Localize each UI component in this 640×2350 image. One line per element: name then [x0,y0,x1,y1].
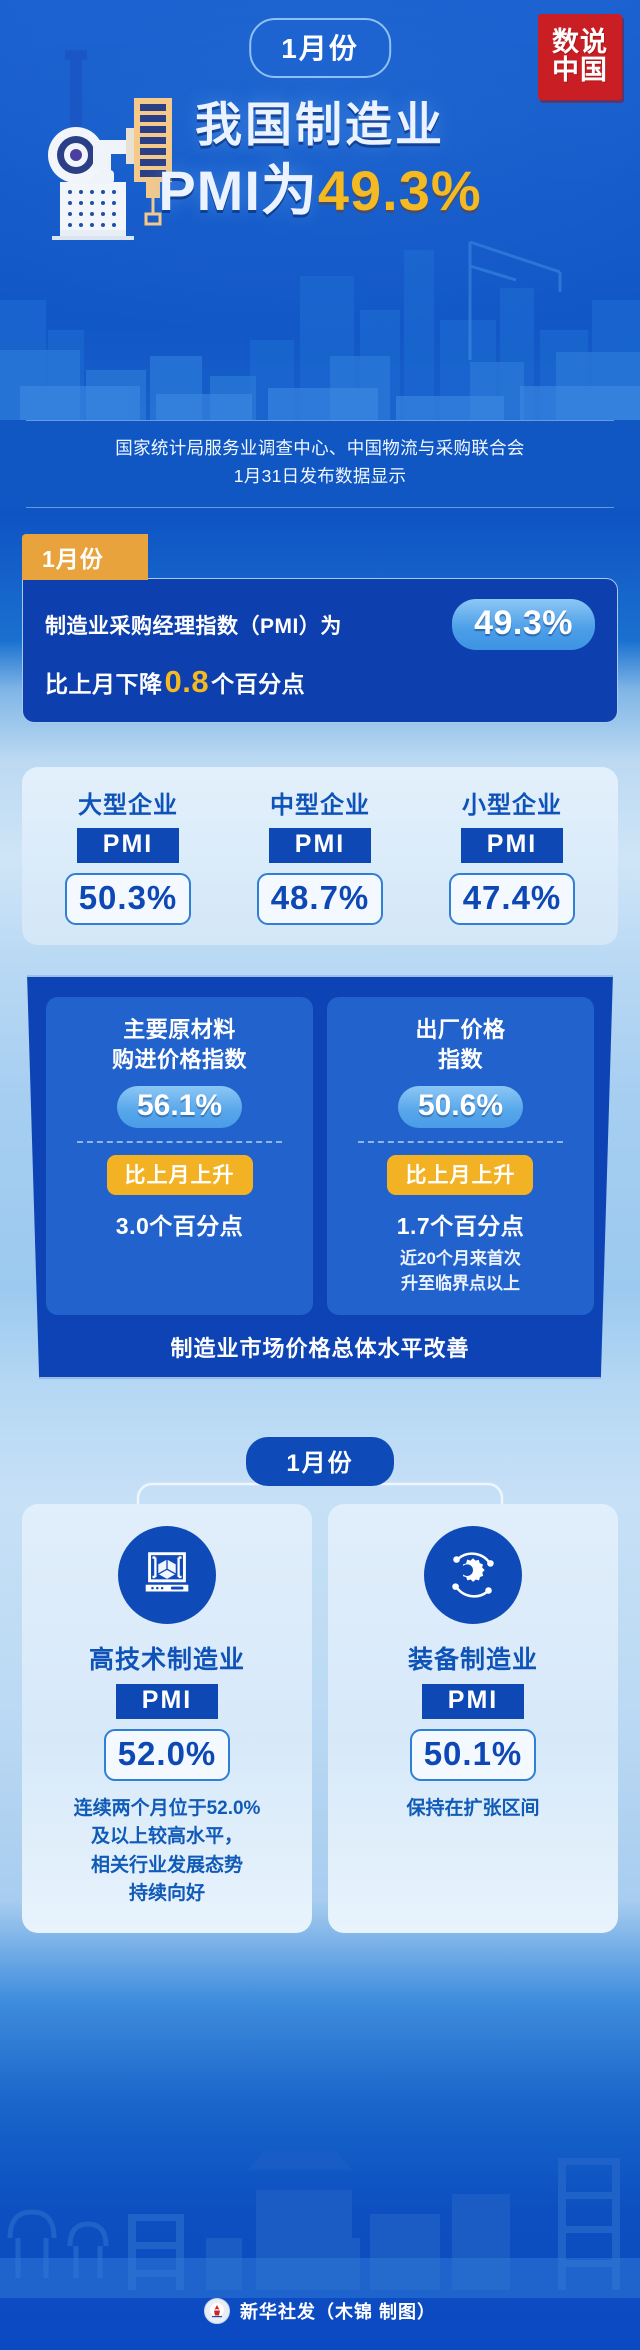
price-index-columns: 主要原材料 购进价格指数 56.1% 比上月上升 3.0个百分点 出厂价格 指数… [36,997,604,1315]
price-points-gate: 1.7个百分点 [397,1207,524,1241]
pmi-month-tag: 1月份 [22,534,148,580]
price-col-raw-material: 主要原材料 购进价格指数 56.1% 比上月上升 3.0个百分点 [46,997,313,1315]
enterprise-pmi-chip-small: PMI [461,828,563,863]
industry-pmi-chip-equipment: PMI [422,1684,524,1719]
enterprise-name-medium: 中型企业 [225,785,415,820]
seal-line-1: 数说 [552,29,608,57]
price-index-footer: 制造业市场价格总体水平改善 [36,1331,604,1363]
price-divider-gate [358,1141,562,1143]
pmi-change-suffix: 个百分点 [211,671,305,697]
industry-desc-high-tech-line4: 持续向好 [74,1880,261,1909]
price-note-gate: 近20个月来首次 升至临界点以上 [400,1247,521,1296]
enterprise-name-large: 大型企业 [33,785,223,820]
source-line-1: 国家统计局服务业调查中心、中国物流与采购联合会 [0,434,640,462]
price-title-raw: 主要原材料 购进价格指数 [112,1015,247,1074]
hero-title-line1: 我国制造业 [0,86,640,155]
seal-line-2: 中国 [552,57,608,85]
xinhua-logo-icon [204,2298,230,2324]
enterprise-col-small: 小型企业 PMI 47.4% [417,785,607,925]
industry-name-high-tech: 高技术制造业 [89,1640,245,1676]
industry-card-equipment: 装备制造业 PMI 50.1% 保持在扩张区间 [328,1504,618,1933]
price-note-gate-line2: 升至临界点以上 [400,1272,521,1297]
industry-desc-equipment-line1: 保持在扩张区间 [406,1795,539,1824]
pmi-value-row: 制造业采购经理指数（PMI）为 49.3% [45,599,595,650]
price-index-section: 主要原材料 购进价格指数 56.1% 比上月上升 3.0个百分点 出厂价格 指数… [0,955,640,1391]
source-line-2: 1月31日发布数据显示 [0,462,640,490]
price-title-gate-line2: 指数 [415,1045,505,1075]
gear-orbit-glyph [442,1544,504,1606]
pmi-value-pill: 49.3% [452,599,595,650]
price-value-raw: 56.1% [117,1086,242,1128]
enterprise-value-small: 47.4% [449,873,576,925]
industrial-skyline-icon [0,2118,640,2298]
hero-pmi-value: 49.3% [318,159,482,222]
industry-pmi-chip-high-tech: PMI [116,1684,218,1719]
industry-value-equipment: 50.1% [410,1729,537,1781]
credit-text: 新华社发（木锦 制图） [240,2298,436,2324]
industry-month-chip: 1月份 [246,1437,393,1486]
price-title-raw-line2: 购进价格指数 [112,1045,247,1075]
hero-title-line2: PMI为49.3% [0,146,640,227]
xinhua-logo-glyph [209,2303,225,2319]
gear-orbit-icon [424,1526,522,1624]
laptop-cube-icon [118,1526,216,1624]
industry-desc-high-tech: 连续两个月位于52.0% 及以上较高水平， 相关行业发展态势 持续向好 [74,1795,261,1909]
price-index-banner: 主要原材料 购进价格指数 56.1% 比上月上升 3.0个百分点 出厂价格 指数… [18,975,622,1379]
enterprise-pmi-chip-medium: PMI [269,828,371,863]
enterprise-col-medium: 中型企业 PMI 48.7% [225,785,415,925]
credit-line: 新华社发（木锦 制图） [0,2298,640,2324]
enterprise-pmi-chip-large: PMI [77,828,179,863]
pmi-summary-section: 1月份 制造业采购经理指数（PMI）为 49.3% 比上月下降0.8个百分点 [0,508,640,753]
industry-name-equipment: 装备制造业 [408,1640,538,1676]
price-title-gate-line1: 出厂价格 [415,1015,505,1045]
price-trend-tag-raw: 比上月上升 [107,1155,253,1195]
price-points-raw: 3.0个百分点 [116,1207,243,1241]
price-title-gate: 出厂价格 指数 [415,1015,505,1074]
price-title-raw-line1: 主要原材料 [112,1015,247,1045]
pmi-change-value: 0.8 [163,664,212,699]
enterprise-col-large: 大型企业 PMI 50.3% [33,785,223,925]
industry-value-high-tech: 52.0% [104,1729,231,1781]
industry-card-high-tech: 高技术制造业 PMI 52.0% 连续两个月位于52.0% 及以上较高水平， 相… [22,1504,312,1933]
infographic-page: 数说 中国 1月份 我国制造业 PMI为49.3% 国家统计局服务业调查中心、中… [0,0,640,2350]
pmi-summary-card: 制造业采购经理指数（PMI）为 49.3% 比上月下降0.8个百分点 [22,578,618,723]
enterprise-value-medium: 48.7% [257,873,384,925]
price-trend-tag-gate: 比上月上升 [387,1155,533,1195]
industry-desc-high-tech-line1: 连续两个月位于52.0% [74,1795,261,1824]
price-col-factory-gate: 出厂价格 指数 50.6% 比上月上升 1.7个百分点 近20个月来首次 升至临… [327,997,594,1315]
industry-section: 1月份 [0,1391,640,1951]
pmi-label: 制造业采购经理指数（PMI）为 [45,610,342,640]
hero-month-chip: 1月份 [249,18,391,78]
footer-section: 新华社发（木锦 制图） [0,2118,640,2350]
pmi-change-row: 比上月下降0.8个百分点 [45,664,595,700]
enterprise-name-small: 小型企业 [417,785,607,820]
industry-desc-high-tech-line2: 及以上较高水平， [74,1823,261,1852]
price-value-gate: 50.6% [398,1086,523,1128]
price-divider-raw [77,1141,281,1143]
pmi-change-prefix: 比上月下降 [45,671,163,697]
industry-desc-equipment: 保持在扩张区间 [406,1795,539,1824]
industry-desc-high-tech-line3: 相关行业发展态势 [74,1852,261,1881]
enterprise-size-card: 大型企业 PMI 50.3% 中型企业 PMI 48.7% 小型企业 PMI 4… [22,767,618,945]
hero-pmi-label: PMI为 [158,159,318,222]
price-note-gate-line1: 近20个月来首次 [400,1247,521,1272]
laptop-cube-glyph [136,1544,198,1606]
enterprise-value-large: 50.3% [65,873,192,925]
source-band: 国家统计局服务业调查中心、中国物流与采购联合会 1月31日发布数据显示 [0,420,640,508]
hero-section: 数说 中国 1月份 我国制造业 PMI为49.3% [0,0,640,420]
enterprise-size-section: 大型企业 PMI 50.3% 中型企业 PMI 48.7% 小型企业 PMI 4… [0,753,640,955]
industry-cards: 高技术制造业 PMI 52.0% 连续两个月位于52.0% 及以上较高水平， 相… [22,1504,618,1933]
